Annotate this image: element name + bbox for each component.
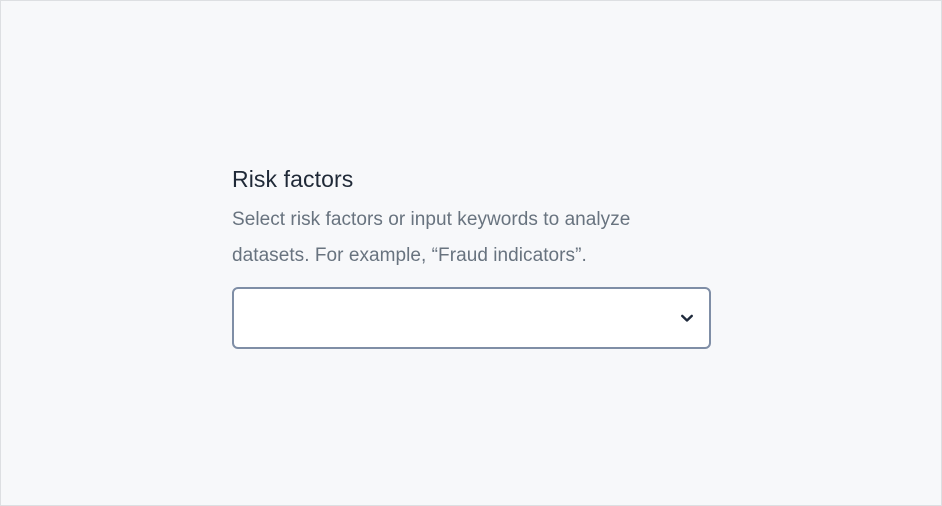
field-description: Select risk factors or input keywords to…: [232, 202, 708, 274]
chevron-down-icon[interactable]: [665, 289, 709, 347]
page-title: Risk factors: [232, 164, 712, 194]
risk-factors-form-group: Risk factors Select risk factors or inpu…: [232, 164, 712, 349]
risk-factors-select[interactable]: [232, 287, 711, 349]
page-canvas: Risk factors Select risk factors or inpu…: [0, 0, 942, 506]
